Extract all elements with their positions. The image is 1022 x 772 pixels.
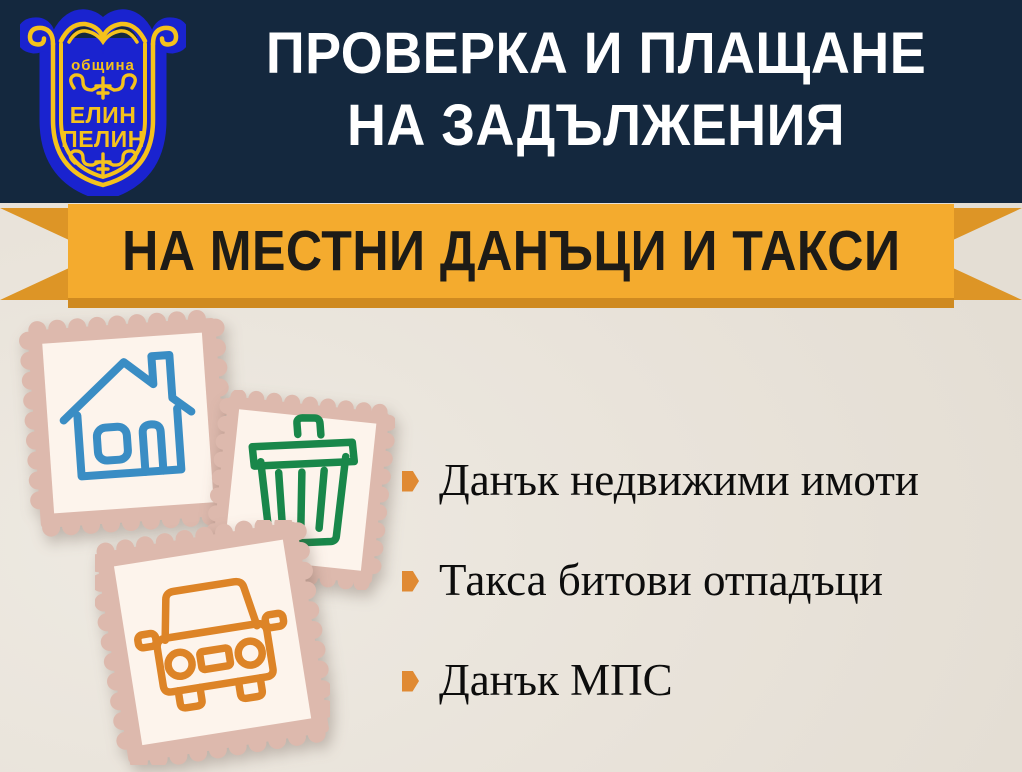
bullet-arrow-icon	[402, 671, 419, 692]
ribbon-label: НА МЕСТНИ ДАНЪЦИ И ТАКСИ	[122, 223, 900, 280]
poster-canvas: община ЕЛИН ПЕЛИН	[0, 0, 1022, 772]
bullet-arrow-icon	[402, 571, 419, 592]
header-banner: община ЕЛИН ПЕЛИН	[0, 0, 1022, 203]
ribbon-face: НА МЕСТНИ ДАНЪЦИ И ТАКСИ	[68, 204, 954, 298]
list-item-label: Данък недвижими имоти	[439, 456, 919, 504]
list-item[interactable]: Данък МПС	[402, 630, 1017, 730]
page-title-line-1: ПРОВЕРКА И ПЛАЩАНЕ	[218, 18, 973, 90]
svg-text:ЕЛИН: ЕЛИН	[70, 102, 137, 128]
list-item-label: Такса битови отпадъци	[439, 556, 883, 604]
svg-text:община: община	[71, 57, 135, 74]
stamp-vehicle-car	[95, 520, 330, 765]
municipality-emblem-icon: община ЕЛИН ПЕЛИН	[20, 8, 186, 196]
list-item-label: Данък МПС	[439, 656, 673, 704]
list-item[interactable]: Такса битови отпадъци	[402, 530, 1017, 630]
svg-text:ПЕЛИН: ПЕЛИН	[61, 126, 145, 152]
bullet-arrow-icon	[402, 471, 419, 492]
page-title-line-2: НА ЗАДЪЛЖЕНИЯ	[218, 90, 973, 162]
tax-type-list: Данък недвижими имоти Такса битови отпад…	[402, 430, 1017, 730]
subtitle-ribbon: НА МЕСТНИ ДАНЪЦИ И ТАКСИ	[0, 200, 1022, 310]
page-title: ПРОВЕРКА И ПЛАЩАНЕ НА ЗАДЪЛЖЕНИЯ	[218, 18, 973, 162]
list-item[interactable]: Данък недвижими имоти	[402, 430, 1017, 530]
